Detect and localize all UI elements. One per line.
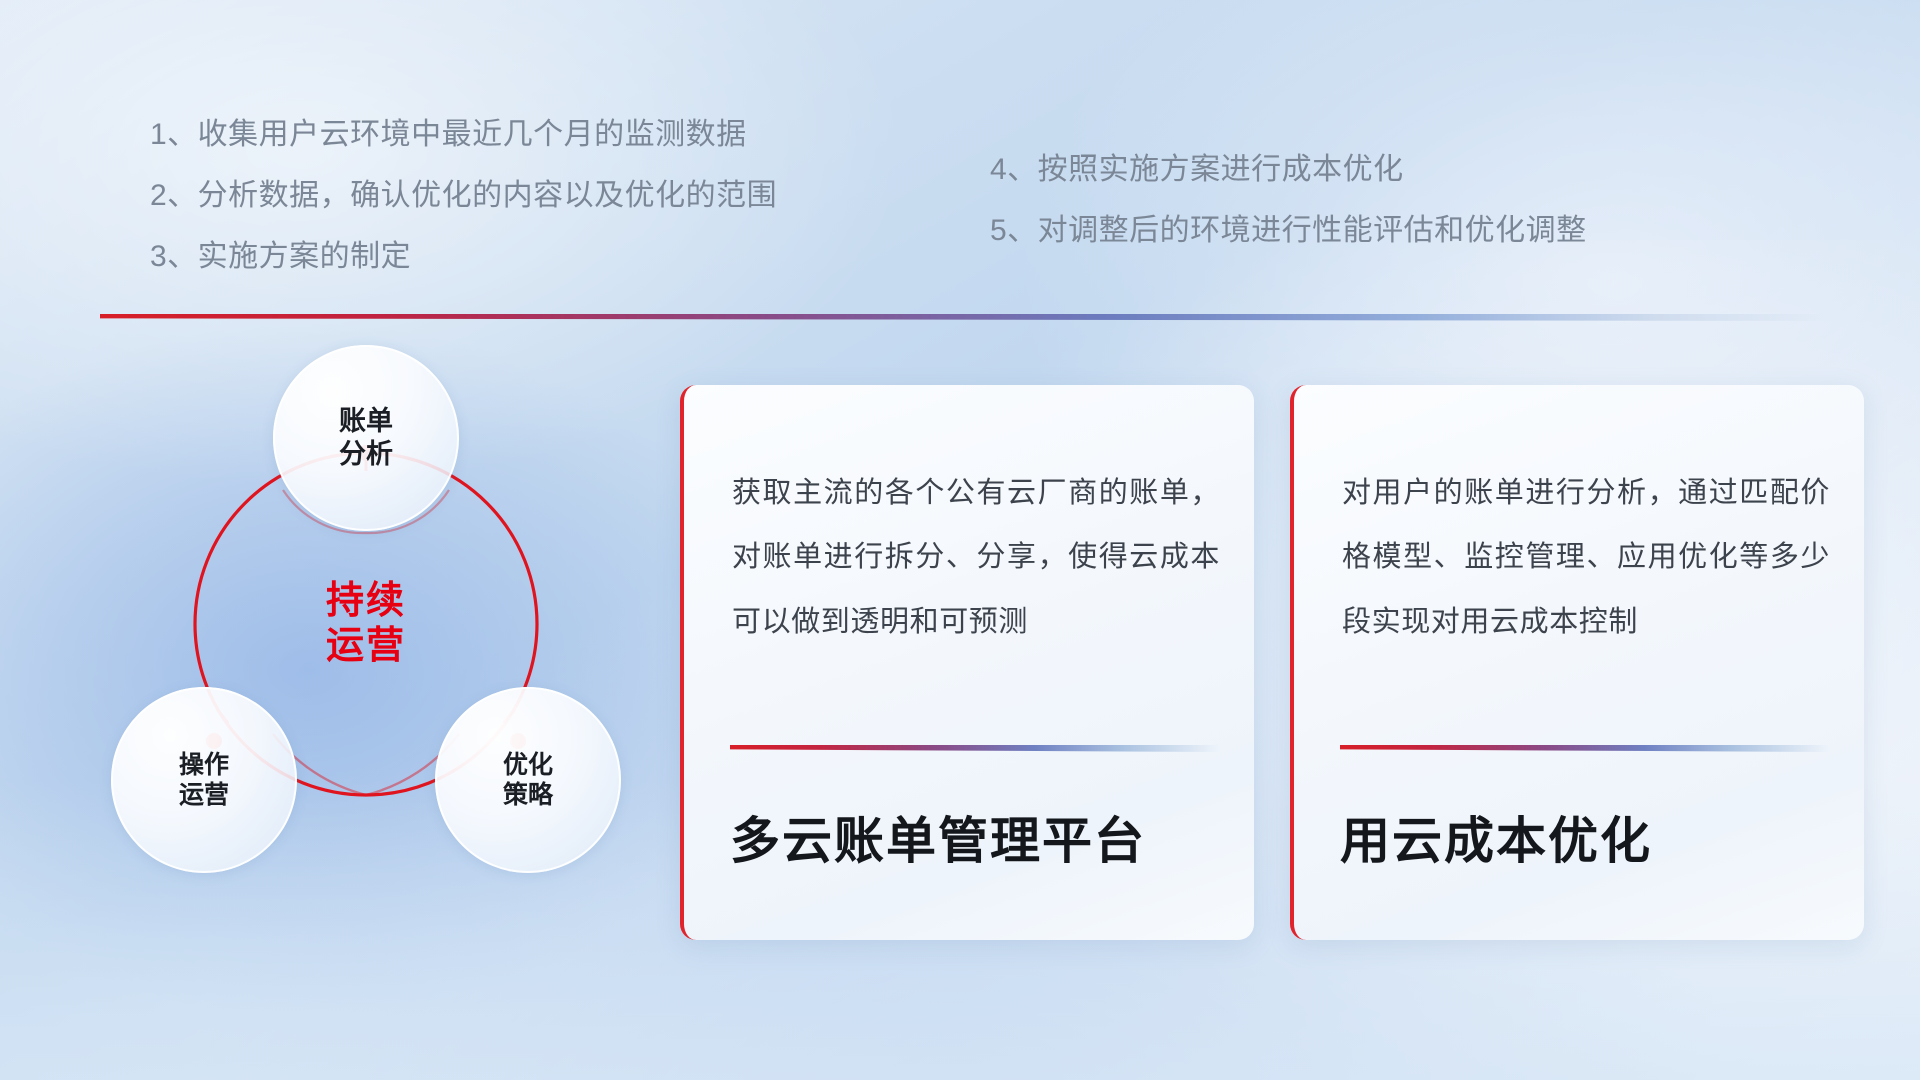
step-item-1: 1、收集用户云环境中最近几个月的监测数据 <box>150 120 777 150</box>
step-item-4: 4、按照实施方案进行成本优化 <box>990 155 1587 185</box>
card-multicloud-billing-platform[interactable]: 获取主流的各个公有云厂商的账单，对账单进行拆分、分享，使得云成本可以做到透明和可… <box>680 385 1254 940</box>
venn-center-label-line1: 持续 <box>326 579 406 624</box>
card-title: 用云成本优化 <box>1340 801 1652 873</box>
header-gradient-divider <box>100 314 1830 321</box>
card-gradient-divider <box>730 745 1220 752</box>
steps-left-column: 1、收集用户云环境中最近几个月的监测数据 2、分析数据，确认优化的内容以及优化的… <box>150 120 777 303</box>
venn-center-label-line2: 运营 <box>326 624 406 669</box>
card-body-text: 获取主流的各个公有云厂商的账单，对账单进行拆分、分享，使得云成本可以做到透明和可… <box>732 461 1220 654</box>
step-item-3: 3、实施方案的制定 <box>150 242 777 272</box>
step-item-2: 2、分析数据，确认优化的内容以及优化的范围 <box>150 181 777 211</box>
card-title: 多云账单管理平台 <box>730 801 1146 873</box>
venn-center-label: 持续 运营 <box>195 453 537 795</box>
steps-right-column: 4、按照实施方案进行成本优化 5、对调整后的环境进行性能评估和优化调整 <box>990 155 1587 277</box>
step-item-5: 5、对调整后的环境进行性能评估和优化调整 <box>990 216 1587 246</box>
card-gradient-divider <box>1340 745 1830 752</box>
venn-bubble-label-line1: 账单 <box>339 405 393 438</box>
venn-diagram: 账单 分析 操作 运营 优化 策略 持续 运营 <box>95 345 655 915</box>
card-body-text: 对用户的账单进行分析，通过匹配价格模型、监控管理、应用优化等多少段实现对用云成本… <box>1342 461 1830 654</box>
card-cloud-cost-optimization[interactable]: 对用户的账单进行分析，通过匹配价格模型、监控管理、应用优化等多少段实现对用云成本… <box>1290 385 1864 940</box>
slide-canvas: 1、收集用户云环境中最近几个月的监测数据 2、分析数据，确认优化的内容以及优化的… <box>0 0 1920 1080</box>
